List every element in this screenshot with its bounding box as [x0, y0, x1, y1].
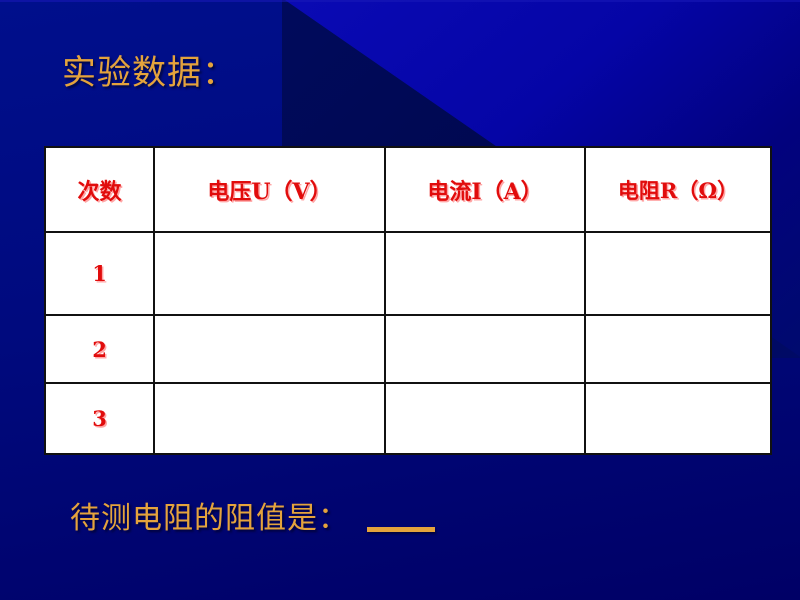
cell-voltage[interactable] [154, 383, 385, 454]
table-row: 1 [45, 232, 771, 315]
cell-resistance[interactable] [585, 383, 771, 454]
table-body: 1 2 3 [45, 232, 771, 454]
row-index-label: 1 [46, 261, 153, 286]
column-header-current: 电流I（A） [385, 147, 585, 232]
footer-answer-blank[interactable]: ＿＿＿ [367, 527, 435, 532]
cell-trial-index: 3 [45, 383, 154, 454]
slide-canvas: 实验数据： 次数 电压U（V） 电流I（A） [0, 0, 800, 600]
column-header-voltage: 电压U（V） [154, 147, 385, 232]
cell-current[interactable] [385, 383, 585, 454]
table-header-row: 次数 电压U（V） 电流I（A） 电阻R（Ω） [45, 147, 771, 232]
table-row: 2 [45, 315, 771, 383]
row-index-label: 2 [46, 337, 153, 362]
cell-voltage[interactable] [154, 232, 385, 315]
cell-resistance[interactable] [585, 315, 771, 383]
column-header-trial: 次数 [45, 147, 154, 232]
experiment-data-table: 次数 电压U（V） 电流I（A） 电阻R（Ω） 1 [44, 146, 772, 455]
page-title: 实验数据： [62, 53, 237, 93]
column-header-current-label: 电流I（A） [386, 174, 584, 206]
background-top-edge-line [0, 0, 800, 2]
column-header-trial-label: 次数 [46, 174, 153, 206]
footer-question: 待测电阻的阻值是： ＿＿＿ [70, 500, 435, 538]
cell-resistance[interactable] [585, 232, 771, 315]
column-header-voltage-label: 电压U（V） [155, 174, 384, 206]
cell-trial-index: 2 [45, 315, 154, 383]
row-index-label: 3 [46, 406, 153, 431]
cell-current[interactable] [385, 232, 585, 315]
experiment-data-table-container: 次数 电压U（V） 电流I（A） 电阻R（Ω） 1 [44, 146, 770, 445]
cell-current[interactable] [385, 315, 585, 383]
column-header-resistance: 电阻R（Ω） [585, 147, 771, 232]
table-header: 次数 电压U（V） 电流I（A） 电阻R（Ω） [45, 147, 771, 232]
table-row: 3 [45, 383, 771, 454]
column-header-resistance-label: 电阻R（Ω） [586, 175, 770, 205]
footer-question-label: 待测电阻的阻值是： [70, 500, 349, 538]
cell-trial-index: 1 [45, 232, 154, 315]
cell-voltage[interactable] [154, 315, 385, 383]
